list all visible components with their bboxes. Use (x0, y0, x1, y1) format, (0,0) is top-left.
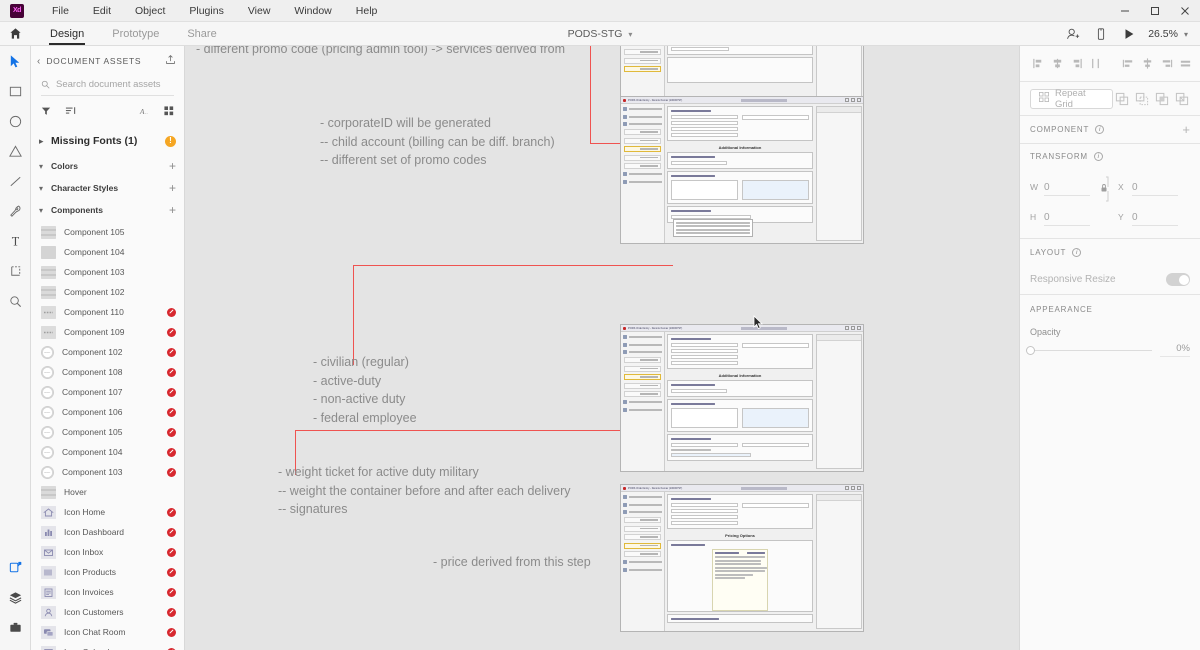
align-toolbar (1020, 46, 1200, 82)
component-name: Icon Chat Room (64, 627, 159, 637)
lock-aspect-ratio-icon[interactable] (1090, 176, 1118, 202)
component-name: Component 105 (64, 227, 176, 237)
component-list-item[interactable]: Component 105 (31, 222, 184, 242)
tab-share[interactable]: Share (173, 22, 230, 46)
section-label-components: Components (51, 205, 169, 215)
component-name: Component 104 (64, 247, 176, 257)
text-size-icon[interactable]: A.. (139, 106, 150, 116)
transform-section-header: TRANSFORM i (1020, 144, 1200, 168)
linked-component-badge-icon (167, 548, 176, 557)
component-list-item[interactable]: Hover (31, 482, 184, 502)
artboard-nav (621, 104, 665, 243)
distribute-left-icon[interactable] (1120, 55, 1137, 72)
info-icon[interactable]: i (1072, 248, 1081, 257)
search-input[interactable] (56, 79, 185, 90)
title-bar: Xd File Edit Object Plugins View Window … (0, 0, 1200, 22)
component-name: Component 106 (62, 407, 159, 417)
artboard-titlebar: PODS Order Entry - Dennis Kumar (1000079… (621, 325, 863, 332)
align-right-icon[interactable] (1068, 55, 1085, 72)
component-list-item[interactable]: Component 108 (31, 362, 184, 382)
zoom-chevron-down-icon[interactable]: ▾ (1184, 30, 1196, 39)
note-corporate-id[interactable]: - corporateID will be generated -- child… (320, 114, 555, 170)
linked-component-badge-icon (167, 408, 176, 417)
component-name: Icon Customers (64, 607, 159, 617)
layout-section-label: LAYOUT (1030, 248, 1066, 257)
artboard-titlebar: PODS Order Entry - Dennis Kumar (1000079… (621, 485, 863, 492)
chevron-down-icon[interactable]: ▾ (39, 184, 51, 193)
component-list-item[interactable]: Component 103 (31, 462, 184, 482)
search-icon (41, 80, 50, 89)
adobe-xd-window: Xd File Edit Object Plugins View Window … (0, 0, 1200, 650)
info-icon[interactable]: i (1094, 152, 1103, 161)
component-name: Component 103 (62, 467, 159, 477)
add-character-style-button[interactable]: + (169, 182, 176, 194)
linked-component-badge-icon (167, 368, 176, 377)
opacity-slider[interactable] (1030, 350, 1152, 351)
component-list-item[interactable]: Icon Products (31, 562, 184, 582)
component-list-item[interactable]: Component 105 (31, 422, 184, 442)
component-thumbnail-circle (41, 386, 54, 399)
component-section-header: COMPONENT i + (1020, 116, 1200, 144)
component-thumbnail-lines (41, 486, 56, 499)
menu-view[interactable]: View (236, 2, 283, 20)
design-canvas[interactable]: - different promo code (pricing admin to… (185, 46, 1019, 650)
opacity-value[interactable]: 0% (1160, 343, 1190, 357)
artboard-heading: Pricing Options (667, 533, 813, 538)
chevron-down-icon[interactable]: ▾ (39, 162, 51, 171)
tools-panel: T (0, 46, 31, 650)
transform-section-label: TRANSFORM (1030, 152, 1088, 161)
option-bar: Design Prototype Share PODS-STG ▾ (0, 22, 1200, 46)
component-thumbnail-icon-invoices (41, 586, 56, 599)
component-thumbnail-solid (41, 246, 56, 259)
grid-view-icon[interactable] (164, 106, 174, 116)
responsive-resize-toggle[interactable] (1166, 273, 1190, 286)
svg-text:A: A (139, 107, 145, 116)
menu-edit[interactable]: Edit (81, 2, 123, 20)
component-thumbnail-lines (41, 286, 56, 299)
component-name: Icon Home (64, 507, 159, 517)
component-name: Component 110 (64, 307, 159, 317)
responsive-resize-label: Responsive Resize (1030, 274, 1166, 285)
align-left-icon[interactable] (1030, 55, 1047, 72)
component-list-item[interactable]: Component 103 (31, 262, 184, 282)
minimize-button[interactable] (1110, 0, 1140, 22)
component-list-item[interactable]: Icon Chat Room (31, 622, 184, 642)
repeat-grid-label: Repeat Grid (1055, 88, 1104, 110)
linked-component-badge-icon (167, 348, 176, 357)
component-list-item[interactable]: Icon Inbox (31, 542, 184, 562)
distribute-group (1120, 55, 1194, 72)
component-thumbnail-dash (41, 326, 56, 339)
preview-device-icon[interactable] (1088, 22, 1114, 46)
assets-panel-tool[interactable] (0, 552, 31, 582)
transform-field-w[interactable]: W 0 (1030, 182, 1090, 196)
connector-line-mid-top (353, 265, 673, 266)
property-inspector: Repeat Grid COMPONENT i + (1019, 46, 1200, 650)
option-bar-right: 26.5% ▾ (1060, 22, 1196, 46)
opacity-slider-handle[interactable] (1026, 346, 1035, 355)
linked-component-badge-icon (167, 448, 176, 457)
transform-value-x[interactable]: 0 (1132, 182, 1178, 196)
component-list-item[interactable]: Icon Home (31, 502, 184, 522)
add-color-button[interactable]: + (169, 160, 176, 172)
svg-text:T: T (11, 234, 19, 248)
linked-component-badge-icon (167, 308, 176, 317)
component-list-item[interactable]: Component 102 (31, 342, 184, 362)
pen-tool[interactable] (0, 196, 31, 226)
chevron-left-icon[interactable]: ‹ (37, 56, 40, 67)
menu-help[interactable]: Help (344, 2, 390, 20)
desktop-preview-play-icon[interactable] (1116, 22, 1142, 46)
zoom-tool[interactable] (0, 286, 31, 316)
exclude-overlap-icon[interactable] (1173, 90, 1190, 107)
component-name: Component 104 (62, 447, 159, 457)
appearance-controls: Opacity 0% (1020, 323, 1200, 357)
component-list-item[interactable]: Component 107 (31, 382, 184, 402)
opacity-row: 0% (1030, 343, 1190, 357)
mode-tabs: Design Prototype Share (36, 22, 231, 46)
missing-fonts-label: Missing Fonts (1) (51, 135, 165, 147)
layout-section-header: LAYOUT i (1020, 239, 1200, 265)
component-list-item[interactable]: Component 106 (31, 402, 184, 422)
component-list-item[interactable]: Icon Customers (31, 602, 184, 622)
component-thumbnail-icon-products (41, 566, 56, 579)
component-name: Icon Products (64, 567, 159, 577)
rectangle-tool[interactable] (0, 76, 31, 106)
info-icon[interactable]: i (1095, 125, 1104, 134)
filter-icon[interactable] (41, 106, 51, 116)
transform-value-y[interactable]: 0 (1132, 212, 1178, 226)
assets-section-colors[interactable]: ▾ Colors + (31, 156, 184, 176)
maximize-button[interactable] (1140, 0, 1170, 22)
document-chevron-down-icon[interactable]: ▾ (628, 30, 632, 39)
xd-logo-icon: Xd (10, 4, 24, 18)
transform-field-h[interactable]: H 0 (1030, 212, 1090, 226)
distribute-right-icon[interactable] (1158, 55, 1175, 72)
component-name: Component 102 (62, 347, 159, 357)
ellipse-tool[interactable] (0, 106, 31, 136)
transform-row-w-x: W 0 X 0 (1030, 176, 1190, 202)
note-weight-ticket[interactable]: - weight ticket for active duty military… (278, 463, 571, 519)
publish-icon[interactable] (165, 52, 176, 70)
artboard-right-pane (816, 46, 862, 103)
artboard-titlebar: PODS Order Entry - Dennis Kumar (1000079… (621, 97, 863, 104)
linked-component-badge-icon (167, 508, 176, 517)
line-tool[interactable] (0, 166, 31, 196)
component-thumbnail-circle (41, 466, 54, 479)
component-name: Icon Dashboard (64, 527, 159, 537)
document-name-label[interactable]: PODS-STG (568, 28, 623, 40)
note-price-derived[interactable]: - price derived from this step (433, 553, 591, 572)
repeat-grid-button[interactable]: Repeat Grid (1030, 89, 1113, 109)
menu-plugins[interactable]: Plugins (177, 2, 235, 20)
component-list-item[interactable]: Icon Dashboard (31, 522, 184, 542)
connector-line-mid-v (353, 265, 354, 365)
linked-component-badge-icon (167, 428, 176, 437)
assets-panel-title: DOCUMENT ASSETS (46, 56, 165, 66)
component-name: Component 103 (64, 267, 176, 277)
component-name: Component 107 (62, 387, 159, 397)
select-tool[interactable] (0, 46, 31, 76)
menu-file[interactable]: File (40, 2, 81, 20)
component-thumbnail-circle (41, 406, 54, 419)
svg-text:..: .. (145, 110, 148, 116)
component-thumbnail-circle (41, 366, 54, 379)
align-middle-icon[interactable] (1087, 55, 1104, 72)
component-list-item[interactable]: Icon Calendar (31, 642, 184, 650)
artboard-heading: Additional Information (667, 145, 813, 150)
component-thumbnail-icon-inbox (41, 546, 56, 559)
home-icon[interactable] (0, 22, 30, 46)
component-thumbnail-circle (41, 446, 54, 459)
close-button[interactable] (1170, 0, 1200, 22)
transform-field-y[interactable]: Y 0 (1118, 212, 1178, 226)
component-thumbnail-icon-calendar (41, 646, 56, 650)
window-controls (1110, 0, 1200, 22)
subtract-icon[interactable] (1133, 90, 1150, 107)
artboard-tool[interactable] (0, 256, 31, 286)
connector-line-top-v (590, 46, 591, 143)
linked-component-badge-icon (167, 528, 176, 537)
section-label-character-styles: Character Styles (51, 183, 169, 193)
distribute-center-icon[interactable] (1139, 55, 1156, 72)
artboard-heading: Additional Information (667, 373, 813, 378)
assets-section-character-styles[interactable]: ▾ Character Styles + (31, 178, 184, 198)
component-name: Icon Inbox (64, 547, 159, 557)
transform-key-h: H (1030, 212, 1038, 222)
artboard-nav (621, 492, 665, 631)
repeat-grid-row: Repeat Grid (1020, 82, 1200, 116)
warning-badge-icon: ! (165, 136, 176, 147)
menu-window[interactable]: Window (282, 2, 343, 20)
intersect-icon[interactable] (1153, 90, 1170, 107)
appearance-section-header: APPEARANCE (1020, 295, 1200, 323)
artboard-pricing-options[interactable]: PODS Order Entry - Dennis Kumar (1000079… (620, 484, 864, 632)
assets-panel-header: ‹ DOCUMENT ASSETS (31, 50, 184, 72)
boolean-ops-group (1113, 90, 1190, 107)
linked-component-badge-icon (167, 388, 176, 397)
transform-fields: W 0 X 0 H (1020, 168, 1200, 239)
component-list-item[interactable]: Component 110 (31, 302, 184, 322)
linked-component-badge-icon (167, 628, 176, 637)
align-group (1030, 55, 1104, 72)
tab-design[interactable]: Design (36, 22, 98, 46)
repeat-grid-icon (1039, 92, 1049, 105)
component-thumbnail-dash (41, 306, 56, 319)
component-name: Hover (64, 487, 176, 497)
component-thumbnail-icon-dashboard (41, 526, 56, 539)
component-name: Component 102 (64, 287, 176, 297)
transform-row-h-y: H 0 Y 0 (1030, 212, 1190, 226)
component-thumbnail-icon-home (41, 506, 56, 519)
artboard-additional-information-military[interactable]: PODS Order Entry - Dennis Kumar (1000079… (620, 324, 864, 472)
linked-component-badge-icon (167, 568, 176, 577)
transform-key-y: Y (1118, 212, 1126, 222)
transform-field-x[interactable]: X 0 (1118, 182, 1178, 196)
invite-people-icon[interactable] (1060, 22, 1086, 46)
transform-value-h[interactable]: 0 (1044, 212, 1090, 226)
assets-section-components[interactable]: ▾ Components + (31, 200, 184, 220)
component-thumbnail-lines (41, 226, 56, 239)
components-list: Component 105Component 104Component 103C… (31, 222, 184, 650)
tab-prototype[interactable]: Prototype (98, 22, 173, 46)
note-military-categories[interactable]: - civilian (regular) - active-duty - non… (313, 353, 417, 427)
chevron-right-icon[interactable]: ▸ (39, 136, 51, 147)
note-promo-code[interactable]: - different promo code (pricing admin to… (196, 46, 565, 59)
linked-component-badge-icon (167, 468, 176, 477)
mouse-cursor (753, 315, 764, 330)
align-center-horizontal-icon[interactable] (1049, 55, 1066, 72)
add-component-button[interactable]: + (169, 204, 176, 216)
menu-object[interactable]: Object (123, 2, 177, 20)
linked-component-badge-icon (167, 608, 176, 617)
component-section-label: COMPONENT (1030, 125, 1089, 134)
document-assets-panel: ‹ DOCUMENT ASSETS ▾ (31, 46, 185, 650)
zoom-level-value[interactable]: 26.5% (1144, 28, 1182, 40)
component-name: Icon Invoices (64, 587, 159, 597)
transform-value-w[interactable]: 0 (1044, 182, 1090, 196)
assets-toolbar: A.. (31, 98, 184, 124)
component-thumbnail-circle (41, 346, 54, 359)
distribute-even-icon[interactable] (1177, 55, 1194, 72)
appearance-section-label: APPEARANCE (1030, 305, 1093, 314)
missing-fonts-row[interactable]: ▸ Missing Fonts (1) ! (31, 128, 184, 154)
menu-bar: File Edit Object Plugins View Window Hel… (40, 2, 389, 20)
add-component-plus-button[interactable]: + (1182, 123, 1190, 136)
component-list-item[interactable]: Icon Invoices (31, 582, 184, 602)
component-name: Component 105 (62, 427, 159, 437)
section-label-colors: Colors (51, 161, 169, 171)
linked-component-badge-icon (167, 328, 176, 337)
component-list-item[interactable]: Component 104 (31, 242, 184, 262)
text-tool[interactable]: T (0, 226, 31, 256)
sort-icon[interactable] (65, 106, 76, 116)
artboard-nav (621, 332, 665, 471)
component-name: Component 109 (64, 327, 159, 337)
assets-search[interactable]: ▾ (41, 74, 174, 96)
component-thumbnail-icon-customers (41, 606, 56, 619)
tools-panel-bottom (0, 552, 31, 642)
component-list-item[interactable]: Component 109 (31, 322, 184, 342)
component-thumbnail-icon-chat (41, 626, 56, 639)
component-name: Component 108 (62, 367, 159, 377)
transform-key-w: W (1030, 182, 1038, 192)
component-thumbnail-lines (41, 266, 56, 279)
artboard-additional-information-top[interactable]: PODS Order Entry - Dennis Kumar (1000079… (620, 96, 864, 244)
connector-line-mid-bot (295, 430, 620, 431)
responsive-resize-row: Responsive Resize (1020, 265, 1200, 295)
plugins-panel-tool[interactable] (0, 612, 31, 642)
linked-component-badge-icon (167, 588, 176, 597)
component-thumbnail-circle (41, 426, 54, 439)
component-list-item[interactable]: Component 102 (31, 282, 184, 302)
add-icon[interactable] (1113, 90, 1130, 107)
component-list-item[interactable]: Component 104 (31, 442, 184, 462)
layers-panel-tool[interactable] (0, 582, 31, 612)
polygon-tool[interactable] (0, 136, 31, 166)
transform-key-x: X (1118, 182, 1126, 192)
opacity-label: Opacity (1030, 327, 1190, 337)
chevron-down-icon[interactable]: ▾ (39, 206, 51, 215)
